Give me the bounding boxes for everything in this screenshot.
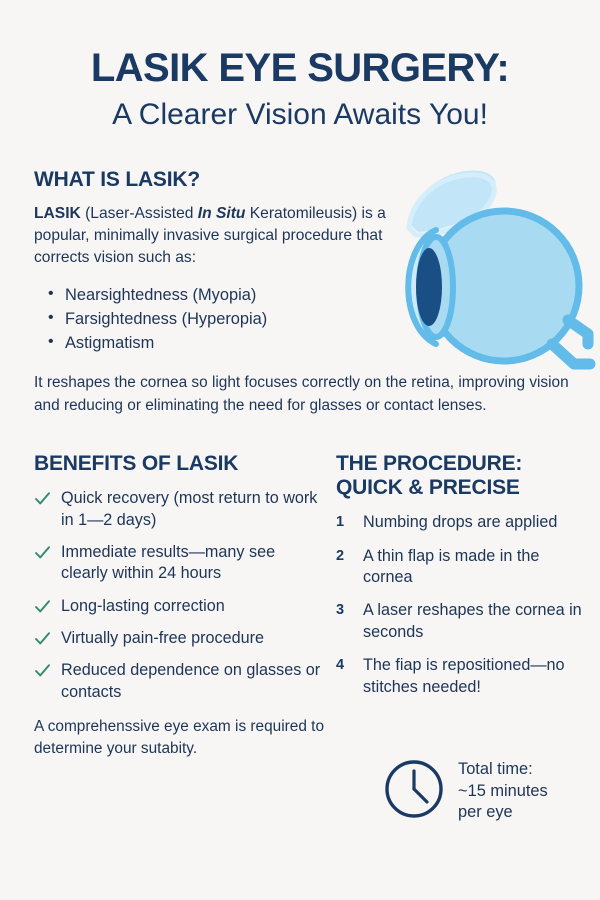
- clock-icon: [383, 758, 445, 825]
- check-icon: [34, 662, 51, 679]
- benefit-text: Reduced dependence on glasses or contact…: [61, 661, 320, 700]
- infographic-page: LASIK EYE SURGERY: A Clearer Vision Awai…: [0, 0, 600, 900]
- step-number: 3: [336, 601, 344, 620]
- benefit-text: Immediate results—many see clearly withi…: [61, 543, 275, 582]
- list-item: 3 A laser reshapes the cornea in seconds: [336, 600, 586, 643]
- list-item: Virtually pain-free procedure: [34, 628, 324, 649]
- benefits-heading: BENEFITS OF LASIK: [34, 452, 324, 476]
- procedure-heading-line2: QUICK & PRECISE: [336, 476, 586, 500]
- eye-exam-note: A comprehenssive eye exam is required to…: [34, 716, 364, 760]
- total-time-text: Total time: ~15 minutes per eye: [458, 759, 548, 824]
- list-item: Reduced dependence on glasses or contact…: [34, 660, 324, 703]
- benefits-list: Quick recovery (most return to work in 1…: [34, 488, 324, 703]
- title-block: LASIK EYE SURGERY: A Clearer Vision Awai…: [0, 0, 600, 134]
- procedure-column: THE PROCEDURE: QUICK & PRECISE 1 Numbing…: [336, 452, 586, 710]
- check-icon: [34, 490, 51, 507]
- optic-nerve-upper: [568, 320, 588, 344]
- total-time-line3: per eye: [458, 803, 513, 821]
- in-situ-italic: In Situ: [198, 205, 246, 222]
- vision-conditions-list: Nearsightedness (Myopia) Farsightedness …: [48, 283, 424, 356]
- check-icon: [34, 544, 51, 561]
- benefit-text: Quick recovery (most return to work in 1…: [61, 489, 317, 528]
- list-item: Nearsightedness (Myopia): [48, 283, 424, 307]
- step-number: 4: [336, 656, 344, 675]
- list-item: Farsightedness (Hyperopia): [48, 307, 424, 331]
- what-is-lasik-heading: WHAT IS LASIK?: [34, 168, 424, 192]
- step-text: Numbing drops are applied: [363, 513, 557, 531]
- lasik-expansion-pre: (Laser-Assisted: [81, 205, 198, 222]
- benefit-text: Long-lasting correction: [61, 597, 225, 615]
- list-item: Quick recovery (most return to work in 1…: [34, 488, 324, 531]
- step-text: A laser reshapes the cornea in seconds: [363, 601, 582, 640]
- what-is-lasik-section: WHAT IS LASIK? LASIK (Laser-Assisted In …: [34, 168, 424, 356]
- lasik-acronym: LASIK: [34, 205, 81, 222]
- page-subtitle: A Clearer Vision Awaits You!: [0, 96, 600, 134]
- total-time-line2: ~15 minutes: [458, 782, 548, 800]
- page-title: LASIK EYE SURGERY:: [0, 46, 600, 90]
- check-icon: [34, 598, 51, 615]
- list-item: Immediate results—many see clearly withi…: [34, 542, 324, 585]
- total-time-line1: Total time:: [458, 760, 533, 778]
- cornea-reshape-paragraph: It reshapes the cornea so light focuses …: [34, 371, 574, 417]
- procedure-heading-line1: THE PROCEDURE:: [336, 452, 586, 476]
- benefits-column: BENEFITS OF LASIK Quick recovery (most r…: [34, 452, 324, 714]
- list-item: 4 The fiap is repositioned—no stitches n…: [336, 655, 586, 698]
- step-number: 2: [336, 547, 344, 566]
- check-icon: [34, 630, 51, 647]
- list-item: 1 Numbing drops are applied: [336, 512, 586, 533]
- list-item: 2 A thin flap is made in the cornea: [336, 546, 586, 589]
- benefit-text: Virtually pain-free procedure: [61, 629, 264, 647]
- procedure-steps-list: 1 Numbing drops are applied 2 A thin fla…: [336, 512, 586, 698]
- list-item: Astigmatism: [48, 331, 424, 355]
- step-text: A thin flap is made in the cornea: [363, 547, 539, 586]
- total-time-block: Total time: ~15 minutes per eye: [383, 758, 548, 825]
- step-number: 1: [336, 513, 344, 532]
- what-is-lasik-paragraph: LASIK (Laser-Assisted In Situ Keratomile…: [34, 203, 419, 269]
- step-text: The fiap is repositioned—no stitches nee…: [363, 656, 565, 695]
- list-item: Long-lasting correction: [34, 596, 324, 617]
